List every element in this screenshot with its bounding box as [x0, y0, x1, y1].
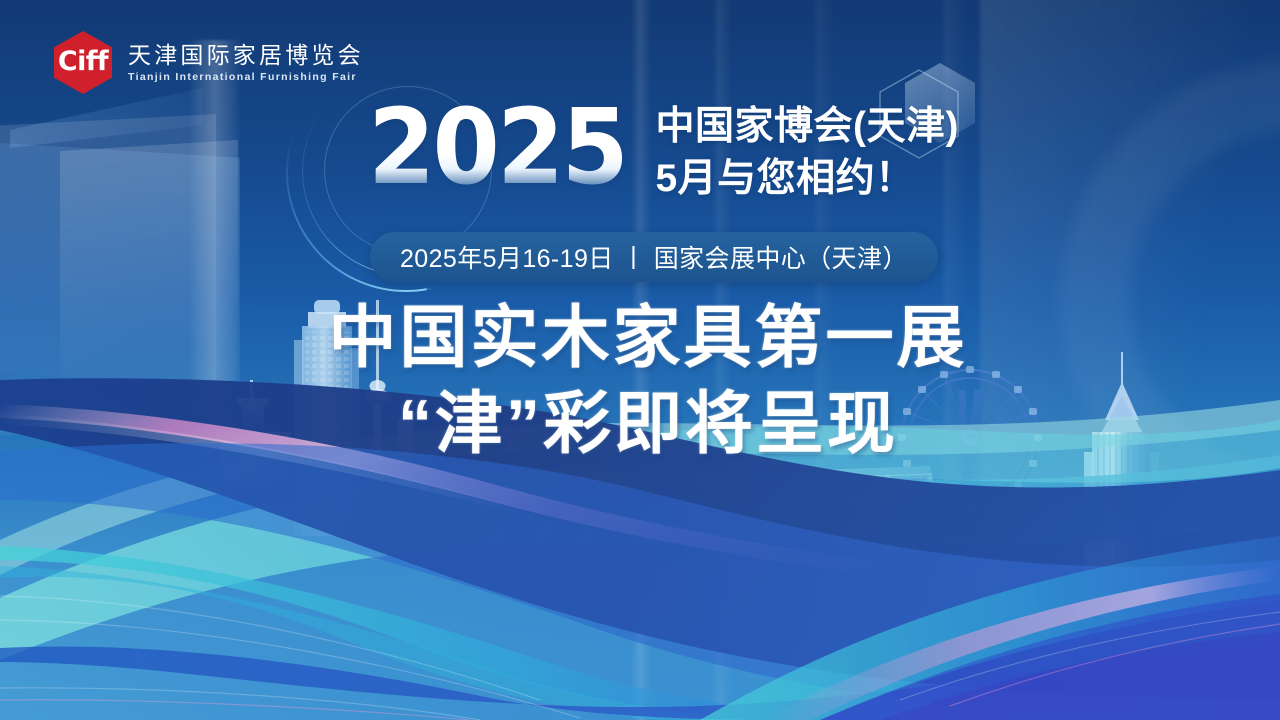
brand-header: Ciff 天津国际家居博览会 Tianjin International Fur… [54, 31, 364, 94]
title-block: 2025 中国家博会(天津) 5月与您相约！ [368, 100, 959, 204]
brand-name-cn: 天津国际家居博览会 [128, 42, 364, 68]
poster-canvas: Ciff 天津国际家居博览会 Tianjin International Fur… [0, 0, 1280, 720]
brand-name-en: Tianjin International Furnishing Fair [128, 71, 364, 83]
ciff-logo-text: Ciff [58, 48, 108, 75]
brand-text-block: 天津国际家居博览会 Tianjin International Furnishi… [128, 42, 364, 83]
title-text-block: 中国家博会(天津) 5月与您相约！ [655, 100, 958, 204]
year-2025: 2025 [368, 100, 626, 196]
ciff-hexagon-logo: Ciff [54, 31, 112, 94]
title-line-2: 5月与您相约！ [655, 155, 958, 204]
date-venue-pill: 2025年5月16-19日 丨 国家会展中心（天津） [370, 232, 938, 282]
title-line-1: 中国家博会(天津) [655, 104, 958, 151]
date-venue-text: 2025年5月16-19日 丨 国家会展中心（天津） [400, 239, 908, 275]
